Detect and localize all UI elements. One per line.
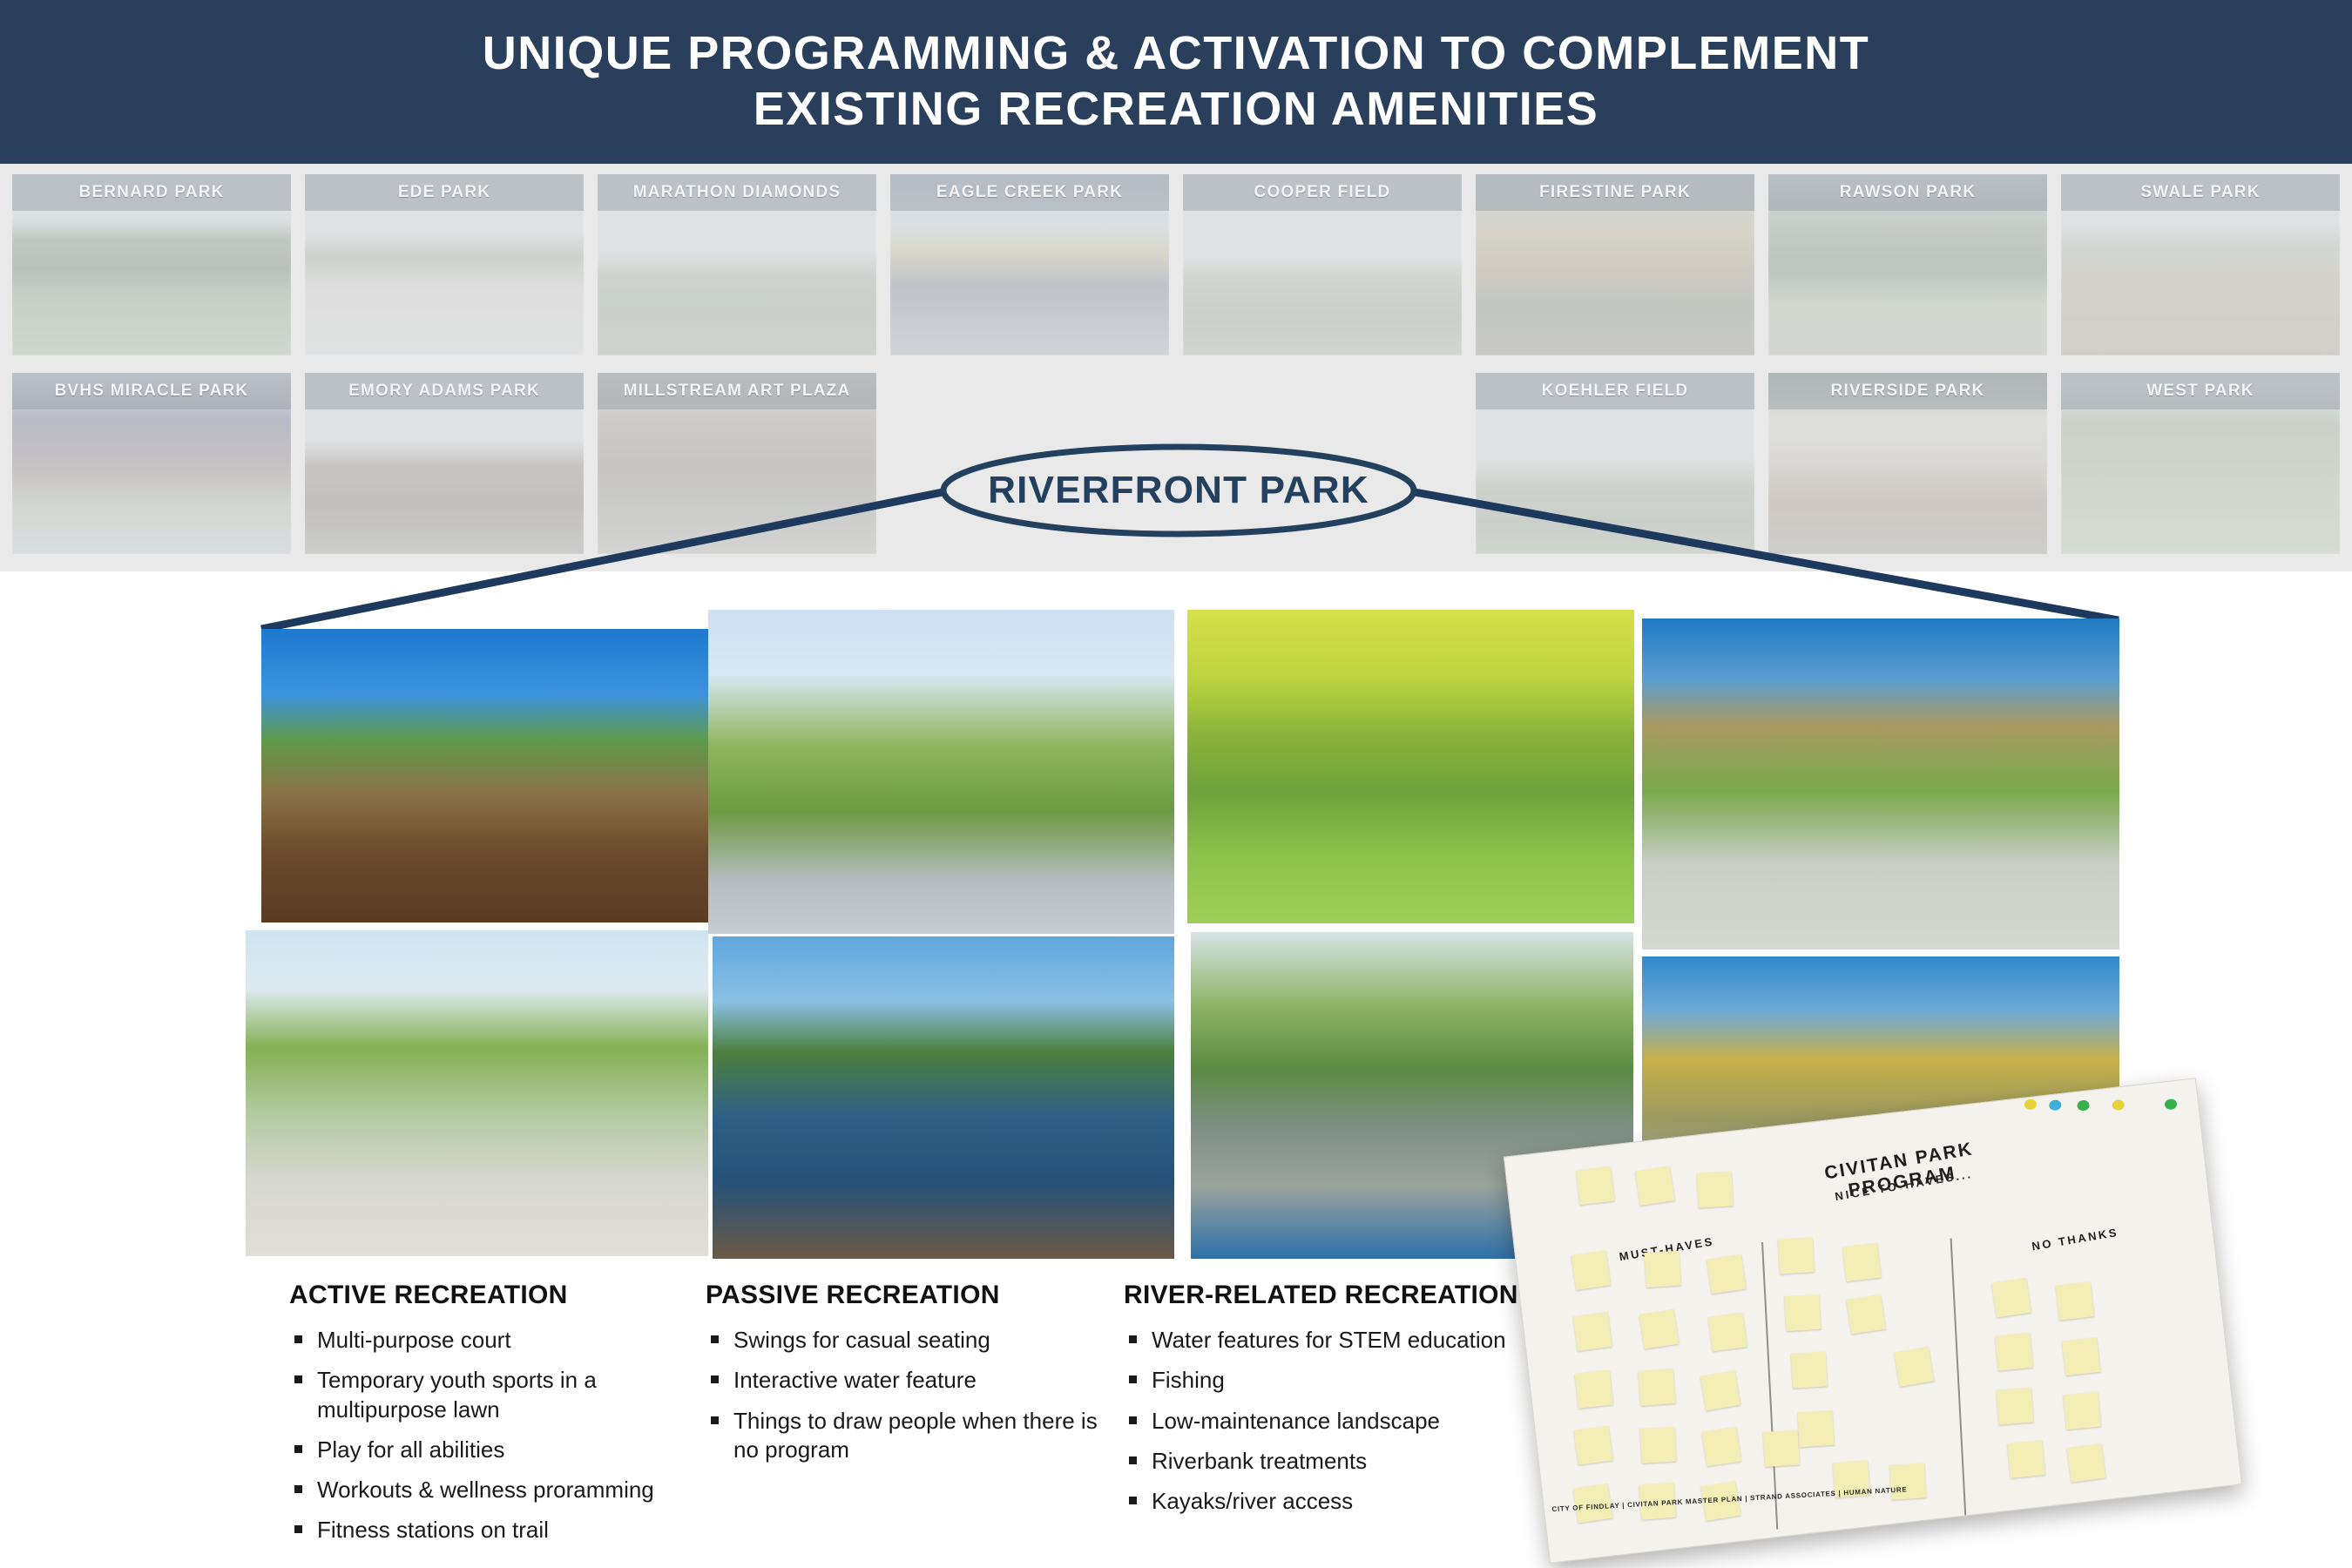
civitan-park-program-poster: CIVITAN PARK PROGRAM NICE-TO-HAVES... MU… <box>1504 1078 2242 1564</box>
program-item: Play for all abilities <box>289 1436 690 1464</box>
promenade-swings-photo <box>246 930 708 1256</box>
montage-photo <box>713 936 1174 1259</box>
program-column: PASSIVE RECREATIONSwings for casual seat… <box>706 1281 1115 1476</box>
park-thumbnail-label: FIRESTINE PARK <box>1476 174 1754 211</box>
park-thumbnail-label: BVHS MIRACLE PARK <box>12 373 291 409</box>
zipline-play-photo <box>261 629 708 923</box>
park-thumbnail: BVHS MIRACLE PARK <box>12 373 291 554</box>
poster-sticky-note <box>1797 1410 1834 1447</box>
park-thumbnail: RAWSON PARK <box>1768 174 2047 355</box>
montage-photo <box>246 930 708 1256</box>
park-thumbnail: COOPER FIELD <box>1183 174 1462 355</box>
program-item: Swings for casual seating <box>706 1326 1115 1355</box>
montage-photo <box>261 629 708 923</box>
park-thumbnail-label: MILLSTREAM ART PLAZA <box>598 373 876 409</box>
program-item: Water features for STEM education <box>1124 1326 1542 1355</box>
poster-column-no-thanks: NO THANKS <box>2031 1226 2119 1253</box>
poster-sticky-note <box>2056 1281 2094 1320</box>
group-yoga-lawn-photo <box>1187 610 1634 923</box>
park-thumbnail: EMORY ADAMS PARK <box>305 373 584 554</box>
montage-photo <box>1187 610 1634 923</box>
poster-sticky-note <box>1639 1427 1676 1463</box>
park-thumbnail-label: SWALE PARK <box>2061 174 2340 211</box>
poster-sticky-note <box>1575 1370 1613 1409</box>
program-item: Workouts & wellness proramming <box>289 1476 690 1504</box>
poster-sticky-note <box>1701 1427 1740 1466</box>
program-item-list: Swings for casual seatingInteractive wat… <box>706 1326 1115 1464</box>
poster-sticky-note <box>1576 1166 1614 1205</box>
poster-sticky-note <box>2067 1443 2106 1483</box>
program-item: Things to draw people when there is no p… <box>706 1407 1115 1465</box>
poster-sticky-note <box>2007 1440 2045 1478</box>
park-thumbnail: BERNARD PARK <box>12 174 291 355</box>
boy-fishing-river-photo <box>713 936 1174 1259</box>
page-title-line-2: EXISTING RECREATION AMENITIES <box>754 82 1599 138</box>
park-thumbnail-label: RAWSON PARK <box>1768 174 2047 211</box>
program-item-list: Water features for STEM educationFishing… <box>1124 1326 1542 1516</box>
park-thumbnail-label: RIVERSIDE PARK <box>1768 373 2047 409</box>
poster-sticky-note <box>1638 1369 1675 1406</box>
poster-sticky-note <box>1894 1347 1934 1387</box>
poster-sticky-note <box>1778 1237 1815 1274</box>
program-item: Kayaks/river access <box>1124 1487 1542 1516</box>
poster-divider-2 <box>1950 1238 1967 1517</box>
park-thumbnail: KOEHLER FIELD <box>1476 373 1754 554</box>
program-column-heading: RIVER-RELATED RECREATION <box>1124 1281 1542 1310</box>
poster-sticky-note <box>1707 1254 1746 1294</box>
park-thumbnail-label: WEST PARK <box>2061 373 2340 409</box>
park-thumbnail-label: KOEHLER FIELD <box>1476 373 1754 409</box>
poster-sticky-note <box>1842 1243 1881 1281</box>
poster-dot-sticker <box>2077 1099 2090 1112</box>
park-thumbnail-label: BERNARD PARK <box>12 174 291 211</box>
program-item: Fitness stations on trail <box>289 1516 690 1544</box>
poster-sticky-note <box>1645 1251 1681 1288</box>
page-title-line-1: UNIQUE PROGRAMMING & ACTIVATION TO COMPL… <box>483 26 1869 82</box>
park-thumbnail-label: EDE PARK <box>305 174 584 211</box>
park-thumbnail-label: COOPER FIELD <box>1183 174 1462 211</box>
park-thumbnail: FIRESTINE PARK <box>1476 174 1754 355</box>
poster-sticky-note <box>1708 1312 1747 1351</box>
park-thumbnail-label: MARATHON DIAMONDS <box>598 174 876 211</box>
poster-dot-sticker <box>2049 1099 2062 1112</box>
program-item-list: Multi-purpose courtTemporary youth sport… <box>289 1326 690 1545</box>
poster-sticky-note <box>1697 1171 1734 1207</box>
park-thumbnail: EAGLE CREEK PARK <box>890 174 1169 355</box>
program-item: Low-maintenance landscape <box>1124 1407 1542 1436</box>
park-thumbnail-label: EMORY ADAMS PARK <box>305 373 584 409</box>
poster-sticky-note <box>2062 1337 2100 1375</box>
park-thumbnail: MILLSTREAM ART PLAZA <box>598 373 876 554</box>
poster-dot-sticker <box>2164 1098 2177 1111</box>
poster-sticky-note <box>1784 1294 1821 1331</box>
poster-sticky-note <box>1573 1312 1612 1351</box>
outdoor-fitness-photo <box>708 610 1174 934</box>
poster-sticky-note <box>1889 1463 1926 1499</box>
park-thumbnail: WEST PARK <box>2061 373 2340 554</box>
program-column: RIVER-RELATED RECREATIONWater features f… <box>1124 1281 1542 1527</box>
poster-divider-1 <box>1761 1242 1778 1530</box>
riverfront-park-label: RIVERFRONT PARK <box>939 443 1418 538</box>
program-item: Multi-purpose court <box>289 1326 690 1355</box>
poster-sticky-note <box>1635 1166 1674 1206</box>
poster-sticky-note <box>1700 1370 1740 1410</box>
amphitheater-lawn-photo <box>1642 618 2119 950</box>
program-item: Riverbank treatments <box>1124 1447 1542 1476</box>
poster-sticky-note <box>1991 1278 2031 1317</box>
park-thumbnail: SWALE PARK <box>2061 174 2340 355</box>
presentation-board: UNIQUE PROGRAMMING & ACTIVATION TO COMPL… <box>0 0 2352 1568</box>
poster-footer-credits: CITY OF FINDLAY | CIVITAN PARK MASTER PL… <box>1551 1480 2004 1513</box>
park-thumbnail-label: EAGLE CREEK PARK <box>890 174 1169 211</box>
poster-dot-sticker <box>2024 1098 2037 1111</box>
poster-sticky-note <box>1639 1309 1679 1348</box>
program-item: Temporary youth sports in a multipurpose… <box>289 1366 690 1424</box>
park-thumbnail: MARATHON DIAMONDS <box>598 174 876 355</box>
program-column: ACTIVE RECREATIONMulti-purpose courtTemp… <box>289 1281 690 1557</box>
program-column-heading: PASSIVE RECREATION <box>706 1281 1115 1310</box>
board-header: UNIQUE PROGRAMMING & ACTIVATION TO COMPL… <box>0 0 2352 164</box>
poster-dot-sticker <box>2112 1099 2125 1112</box>
park-thumbnail: EDE PARK <box>305 174 584 355</box>
program-item: Interactive water feature <box>706 1366 1115 1395</box>
program-column-heading: ACTIVE RECREATION <box>289 1281 690 1310</box>
montage-photo <box>708 610 1174 934</box>
park-thumbnail: RIVERSIDE PARK <box>1768 373 2047 554</box>
riverfront-park-callout: RIVERFRONT PARK <box>939 443 1418 538</box>
poster-sticky-note <box>1791 1351 1828 1388</box>
poster-sticky-note <box>1763 1430 1800 1467</box>
poster-sticky-note <box>1995 1333 2033 1371</box>
poster-sticky-note <box>1574 1426 1613 1465</box>
poster-sticky-note <box>1846 1294 1885 1334</box>
poster-sticky-note <box>1997 1388 2034 1425</box>
poster-sticky-note <box>1571 1251 1611 1290</box>
poster-sticky-note <box>2063 1392 2101 1430</box>
montage-photo <box>1642 618 2119 950</box>
program-item: Fishing <box>1124 1366 1542 1395</box>
